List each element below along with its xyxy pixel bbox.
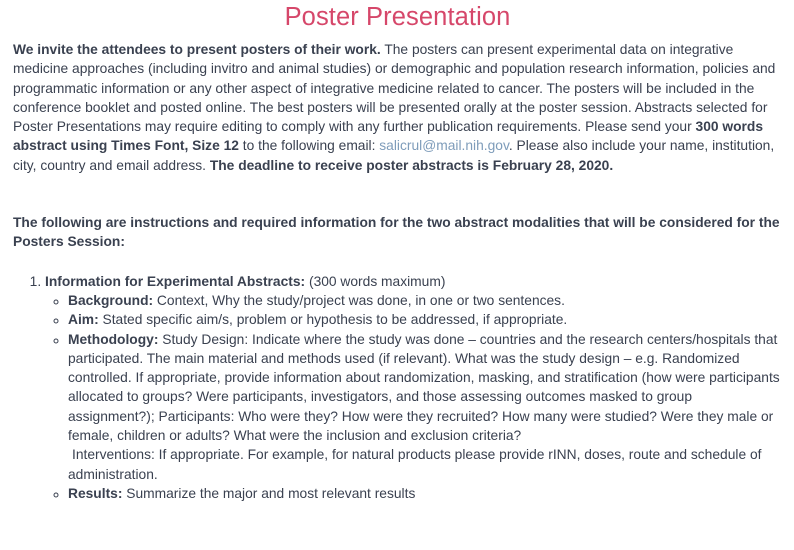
list-item-background: Background: Context, Why the study/proje…	[68, 291, 782, 310]
list-item-aim: Aim: Stated specific aim/s, problem or h…	[68, 310, 782, 329]
intro-paragraph: We invite the attendees to present poste…	[13, 40, 782, 175]
section-spacer	[13, 175, 782, 213]
document-page: Poster Presentation We invite the attend…	[0, 2, 794, 550]
methodology-text: Study Design: Indicate where the study w…	[68, 332, 780, 443]
methodology-interventions-text: Interventions: If appropriate. For examp…	[68, 445, 782, 484]
list-spacer	[13, 252, 782, 272]
page-title: Poster Presentation	[13, 2, 782, 32]
aim-label: Aim:	[68, 312, 99, 327]
list-item-experimental-abstracts: Information for Experimental Abstracts: …	[45, 272, 782, 504]
background-label: Background:	[68, 293, 153, 308]
intro-body-part2: to the following email:	[239, 138, 379, 153]
abstract-modality-list: Information for Experimental Abstracts: …	[13, 272, 782, 504]
background-text: Context, Why the study/project was done,…	[153, 293, 565, 308]
instructions-heading: The following are instructions and requi…	[13, 213, 782, 252]
instructions-heading-text: The following are instructions and requi…	[13, 215, 780, 249]
experimental-abstracts-label: Information for Experimental Abstracts:	[45, 274, 305, 289]
deadline-bold: The deadline to receive poster abstracts…	[210, 158, 613, 173]
experimental-abstracts-note: (300 words maximum)	[305, 274, 445, 289]
contact-email-link[interactable]: salicrul@mail.nih.gov	[379, 138, 509, 153]
list-item-results: Results: Summarize the major and most re…	[68, 484, 782, 503]
methodology-label: Methodology:	[68, 332, 158, 347]
results-label: Results:	[68, 486, 122, 501]
aim-text: Stated specific aim/s, problem or hypoth…	[99, 312, 568, 327]
list-item-label: Information for Experimental Abstracts: …	[45, 274, 445, 289]
results-text: Summarize the major and most relevant re…	[122, 486, 415, 501]
experimental-abstracts-sublist: Background: Context, Why the study/proje…	[45, 291, 782, 503]
intro-lead-bold: We invite the attendees to present poste…	[13, 42, 381, 57]
list-item-methodology: Methodology: Study Design: Indicate wher…	[68, 330, 782, 484]
